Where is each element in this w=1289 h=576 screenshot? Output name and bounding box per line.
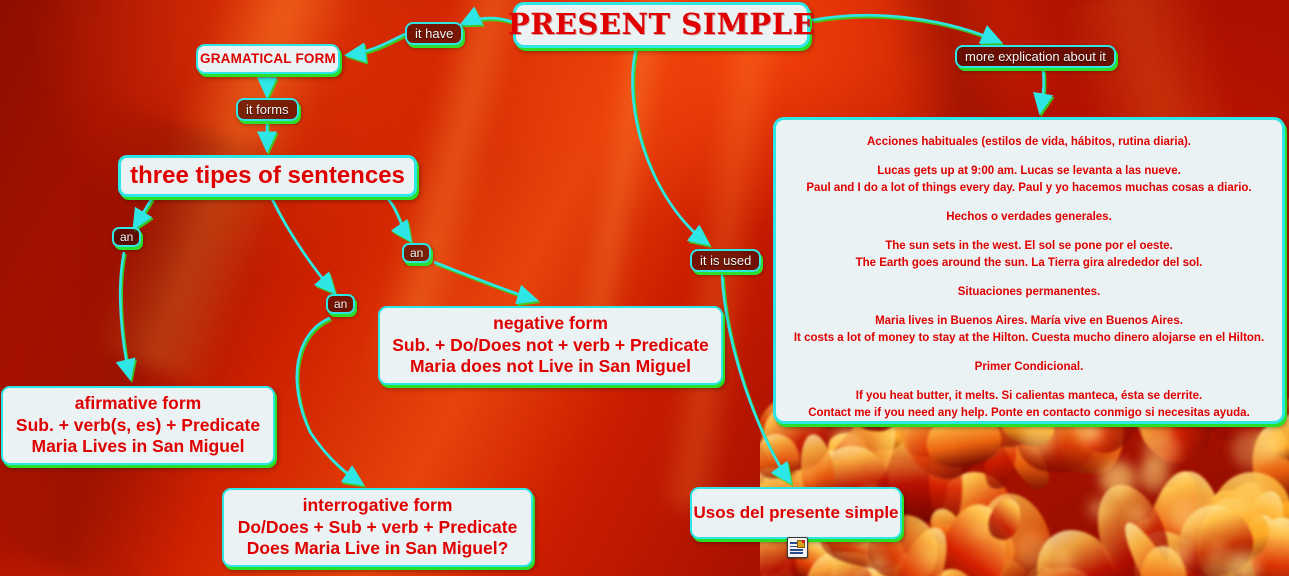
affirmative-line-1: afirmative form [16,393,260,414]
node-negative-form[interactable]: negative form Sub. + Do/Does not + verb … [378,306,723,385]
mindmap-canvas: PRESENT SIMPLE GRAMATICAL FORM three tip… [0,0,1289,576]
note-icon[interactable] [787,537,808,558]
panel-block-2-examples: The sun sets in the west. El sol se pone… [786,238,1272,271]
panel-block-1-examples: Lucas gets up at 9:00 am. Lucas se levan… [786,163,1272,196]
negative-line-3: Maria does not Live in San Miguel [392,356,709,377]
connector-label-an-2[interactable]: an [402,243,431,263]
three-types-text: three tipes of sentences [130,161,405,190]
connector-label-an-1-text: an [120,230,133,244]
panel-block-1: Acciones habituales (estilos de vida, há… [786,134,1272,150]
interrogative-line-2: Do/Does + Sub + verb + Predicate [238,517,518,538]
panel-block-4: Primer Condicional. [786,359,1272,375]
node-three-types-of-sentences[interactable]: three tipes of sentences [118,155,417,197]
usos-text: Usos del presente simple [693,503,898,524]
panel-block-4-heading: Primer Condicional. [786,359,1272,375]
connector-label-it-is-used[interactable]: it is used [690,249,761,272]
panel-block-3-example-1: Maria lives in Buenos Aires. María vive … [786,313,1272,329]
panel-block-3: Situaciones permanentes. [786,284,1272,300]
connector-label-it-have[interactable]: it have [405,22,463,45]
connector-label-it-have-text: it have [415,26,453,41]
panel-block-3-example-2: It costs a lot of money to stay at the H… [786,330,1272,346]
affirmative-line-2: Sub. + verb(s, es) + Predicate [16,415,260,436]
connector-label-an-2-text: an [410,246,423,260]
connector-label-more-explication[interactable]: more explication about it [955,45,1116,68]
affirmative-line-3: Maria Lives in San Miguel [16,436,260,457]
connector-label-it-is-used-text: it is used [700,253,751,268]
panel-block-2: Hechos o verdades generales. [786,209,1272,225]
node-usos-del-presente-simple[interactable]: Usos del presente simple [690,487,902,539]
panel-block-2-example-1: The sun sets in the west. El sol se pone… [786,238,1272,254]
node-interrogative-form[interactable]: interrogative form Do/Does + Sub + verb … [222,488,533,567]
connector-label-an-3[interactable]: an [326,294,355,314]
interrogative-line-1: interrogative form [238,495,518,516]
node-usage-explanation-panel[interactable]: Acciones habituales (estilos de vida, há… [773,117,1285,424]
negative-line-1: negative form [392,313,709,334]
panel-block-1-heading: Acciones habituales (estilos de vida, há… [786,134,1272,150]
panel-block-1-example-1: Lucas gets up at 9:00 am. Lucas se levan… [786,163,1272,179]
connector-label-an-1[interactable]: an [112,227,141,247]
panel-block-2-heading: Hechos o verdades generales. [786,209,1272,225]
panel-block-1-example-2: Paul and I do a lot of things every day.… [786,180,1272,196]
title-text: PRESENT SIMPLE [508,7,815,42]
node-affirmative-form[interactable]: afirmative form Sub. + verb(s, es) + Pre… [1,386,275,465]
panel-block-4-example-2: Contact me if you need any help. Ponte e… [786,405,1272,421]
connector-label-it-forms[interactable]: it forms [236,98,299,121]
interrogative-line-3: Does Maria Live in San Miguel? [238,538,518,559]
panel-block-3-examples: Maria lives in Buenos Aires. María vive … [786,313,1272,346]
negative-line-2: Sub. + Do/Does not + verb + Predicate [392,335,709,356]
panel-block-3-heading: Situaciones permanentes. [786,284,1272,300]
connector-label-more-explication-text: more explication about it [965,49,1106,64]
panel-block-4-examples: If you heat butter, it melts. Si calient… [786,388,1272,421]
panel-block-2-example-2: The Earth goes around the sun. La Tierra… [786,255,1272,271]
panel-block-4-example-1: If you heat butter, it melts. Si calient… [786,388,1272,404]
node-gramatical-form[interactable]: GRAMATICAL FORM [196,44,340,74]
gramatical-form-text: GRAMATICAL FORM [200,51,336,67]
node-present-simple-title[interactable]: PRESENT SIMPLE [513,2,810,48]
connector-label-an-3-text: an [334,297,347,311]
connector-label-it-forms-text: it forms [246,102,289,117]
